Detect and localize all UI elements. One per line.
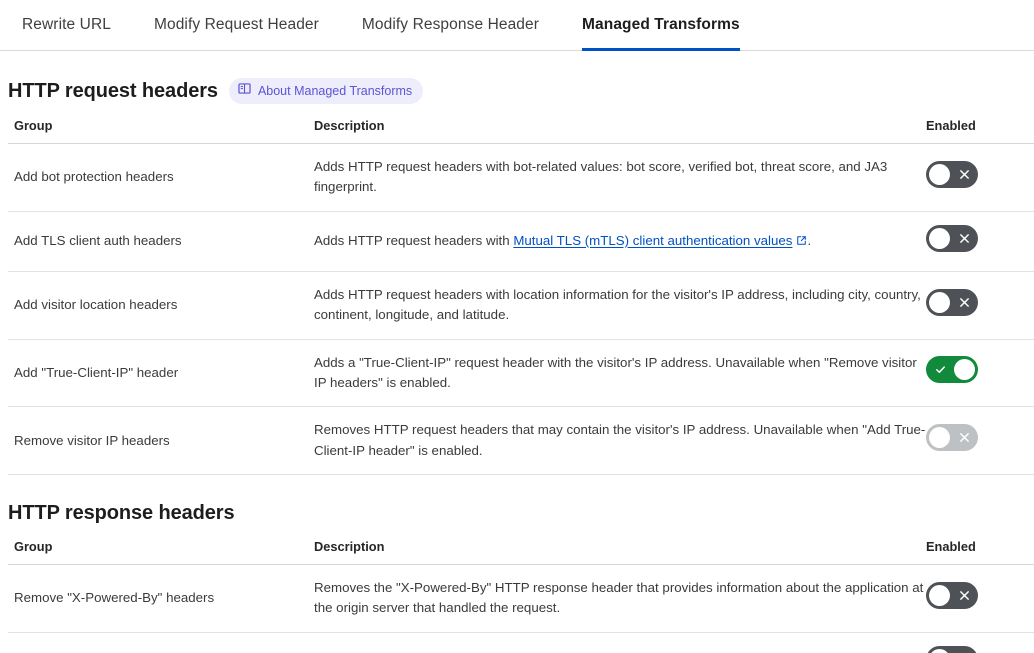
tab-rewrite-url[interactable]: Rewrite URL: [22, 17, 111, 52]
row-description: Adds several security-related HTTP respo…: [314, 632, 926, 653]
row-description: Adds HTTP request headers with bot-relat…: [314, 144, 926, 212]
row-enabled-cell: [926, 407, 1034, 475]
close-icon: [950, 225, 978, 252]
toggle-knob: [929, 427, 950, 448]
toggle-remove-visitor-ip-headers: [926, 424, 978, 451]
close-icon: [950, 424, 978, 451]
row-group-name: Remove "X-Powered-By" headers: [8, 565, 314, 633]
page-title-request: HTTP request headers: [8, 80, 218, 103]
toggle-knob: [929, 292, 950, 313]
row-description: Adds HTTP request headers with location …: [314, 272, 926, 340]
toggle-knob: [954, 359, 975, 380]
table-header-row: Group Description Enabled: [8, 118, 1034, 144]
check-icon: [926, 356, 954, 383]
toggle-knob: [929, 164, 950, 185]
row-enabled-cell: [926, 272, 1034, 340]
toggle-knob: [929, 585, 950, 606]
toggle-add-visitor-location-headers[interactable]: [926, 289, 978, 316]
row-group-name: Add security headers: [8, 632, 314, 653]
row-description: Removes the "X-Powered-By" HTTP response…: [314, 565, 926, 633]
table-row: Remove visitor IP headers Removes HTTP r…: [8, 407, 1034, 475]
tab-managed-transforms[interactable]: Managed Transforms: [582, 17, 740, 52]
toggle-add-security-headers[interactable]: [926, 646, 978, 653]
close-icon: [950, 161, 978, 188]
mutual-tls-documentation-link[interactable]: Mutual TLS (mTLS) client authentication …: [513, 233, 792, 248]
tab-bar: Rewrite URL Modify Request Header Modify…: [0, 0, 1034, 51]
about-managed-transforms-badge[interactable]: About Managed Transforms: [229, 78, 423, 104]
row-description-suffix: .: [807, 233, 811, 248]
table-row: Add bot protection headers Adds HTTP req…: [8, 144, 1034, 212]
row-enabled-cell: [926, 339, 1034, 407]
column-header-group: Group: [8, 539, 314, 565]
column-header-group: Group: [8, 118, 314, 144]
column-header-description: Description: [314, 539, 926, 565]
column-header-description: Description: [314, 118, 926, 144]
row-description: Removes HTTP request headers that may co…: [314, 407, 926, 475]
row-description: Adds HTTP request headers with Mutual TL…: [314, 211, 926, 271]
toggle-knob: [929, 228, 950, 249]
book-icon: [238, 82, 251, 100]
request-section-header: HTTP request headers About Managed Trans…: [8, 51, 1026, 118]
table-row: Add TLS client auth headers Adds HTTP re…: [8, 211, 1034, 271]
column-header-enabled: Enabled: [926, 539, 1034, 565]
table-row: Add security headers Adds several securi…: [8, 632, 1034, 653]
page-title-response: HTTP response headers: [8, 502, 235, 525]
table-row: Remove "X-Powered-By" headers Removes th…: [8, 565, 1034, 633]
close-icon: [950, 646, 978, 653]
about-managed-transforms-label: About Managed Transforms: [258, 84, 412, 98]
row-enabled-cell: [926, 632, 1034, 653]
column-header-enabled: Enabled: [926, 118, 1034, 144]
tab-modify-request-header[interactable]: Modify Request Header: [154, 17, 319, 52]
toggle-add-bot-protection-headers[interactable]: [926, 161, 978, 188]
row-group-name: Remove visitor IP headers: [8, 407, 314, 475]
table-header-row: Group Description Enabled: [8, 539, 1034, 565]
table-row: Add "True-Client-IP" header Adds a "True…: [8, 339, 1034, 407]
row-enabled-cell: [926, 211, 1034, 271]
row-group-name: Add "True-Client-IP" header: [8, 339, 314, 407]
response-headers-table: Group Description Enabled Remove "X-Powe…: [8, 539, 1034, 653]
toggle-knob: [929, 649, 950, 653]
row-description-prefix: Adds HTTP request headers with: [314, 233, 513, 248]
row-group-name: Add visitor location headers: [8, 272, 314, 340]
http-request-headers-section: HTTP request headers About Managed Trans…: [0, 51, 1034, 475]
table-row: Add visitor location headers Adds HTTP r…: [8, 272, 1034, 340]
row-group-name: Add TLS client auth headers: [8, 211, 314, 271]
row-enabled-cell: [926, 144, 1034, 212]
http-response-headers-section: HTTP response headers Group Description …: [0, 475, 1034, 653]
toggle-add-tls-client-auth-headers[interactable]: [926, 225, 978, 252]
request-headers-table: Group Description Enabled Add bot protec…: [8, 118, 1034, 475]
row-description: Adds a "True-Client-IP" request header w…: [314, 339, 926, 407]
toggle-remove-x-powered-by-headers[interactable]: [926, 582, 978, 609]
close-icon: [950, 582, 978, 609]
row-group-name: Add bot protection headers: [8, 144, 314, 212]
row-enabled-cell: [926, 565, 1034, 633]
tab-modify-response-header[interactable]: Modify Response Header: [362, 17, 539, 52]
toggle-add-true-client-ip-header[interactable]: [926, 356, 978, 383]
external-link-icon: [796, 232, 807, 252]
close-icon: [950, 289, 978, 316]
response-section-header: HTTP response headers: [8, 475, 1026, 539]
